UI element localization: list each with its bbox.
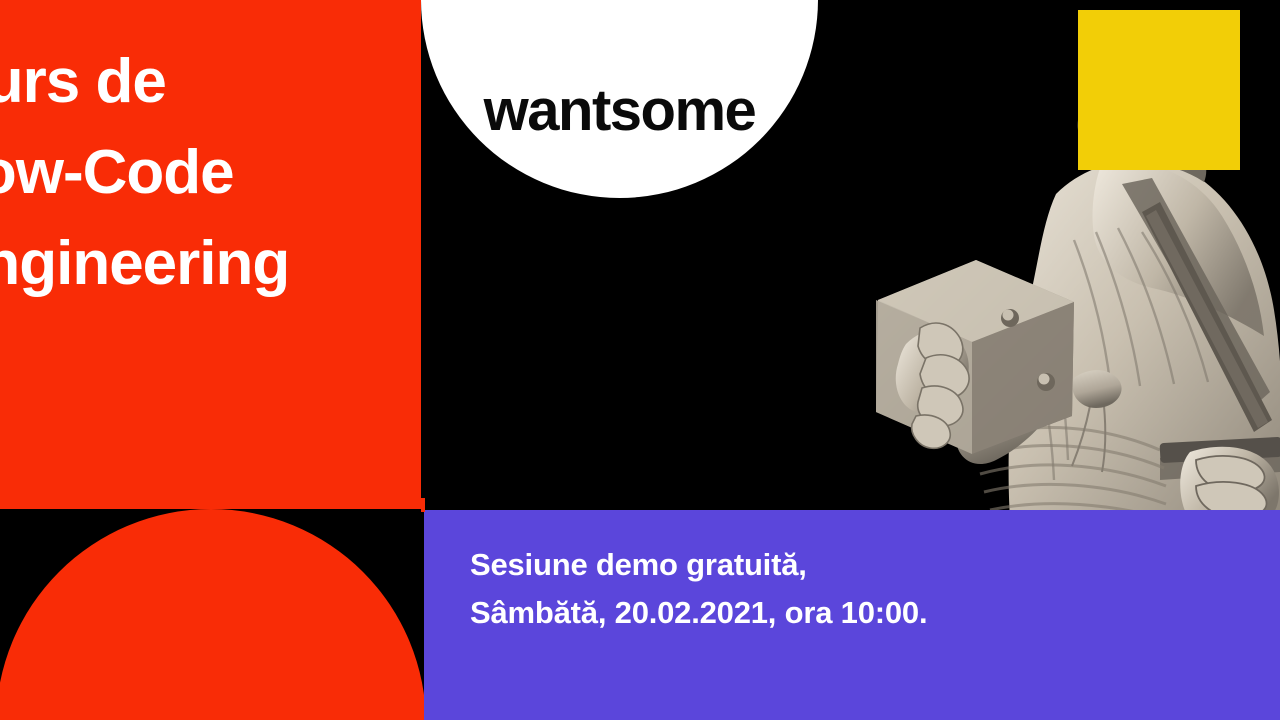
headline-line-3: Engineering [0, 218, 421, 309]
page-title: Curs de Low-Code Engineering [0, 36, 421, 309]
red-edge-sliver [421, 498, 425, 512]
statue-illustration [860, 120, 1280, 520]
event-banner: Sesiune demo gratuită, Sâmbătă, 20.02.20… [424, 510, 1280, 720]
yellow-square-accent [1078, 10, 1240, 170]
poster-canvas: Curs de Low-Code Engineering wantsome [0, 0, 1280, 720]
event-line-1: Sesiune demo gratuită, [470, 541, 927, 589]
brand-logo: wantsome [421, 0, 818, 198]
red-semicircle-accent [0, 509, 426, 720]
headline-line-2: Low-Code [0, 127, 421, 218]
headline-red-block: Curs de Low-Code Engineering [0, 0, 421, 509]
statue-image [860, 120, 1280, 520]
event-details: Sesiune demo gratuită, Sâmbătă, 20.02.20… [470, 541, 927, 637]
headline-line-1: Curs de [0, 36, 421, 127]
event-line-2: Sâmbătă, 20.02.2021, ora 10:00. [470, 589, 927, 637]
